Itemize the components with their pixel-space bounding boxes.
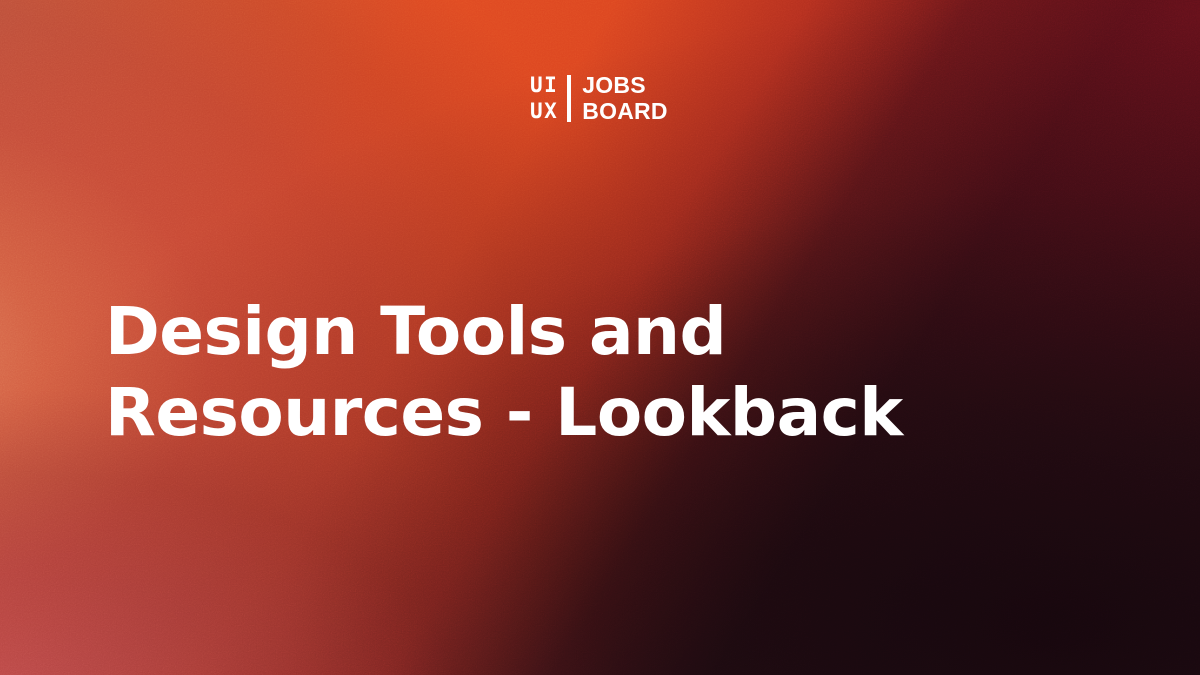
logo-monogram-ui: UI [530,75,558,96]
logo-word-board: BOARD [582,100,667,123]
logo-monogram: UI UX [530,75,558,122]
promo-banner: UI UX JOBS BOARD Design Tools and Resour… [0,0,1200,675]
page-title-line-1: Design Tools and [105,292,1005,373]
page-title: Design Tools and Resources - Lookback [105,292,1005,453]
uiux-jobs-board-logo[interactable]: UI UX JOBS BOARD [530,74,668,123]
logo-wordmark: JOBS BOARD [582,74,667,123]
logo-word-jobs: JOBS [582,74,667,97]
logo-monogram-ux: UX [530,101,558,122]
page-title-line-2: Resources - Lookback [105,373,1005,454]
logo-divider-icon [567,75,571,122]
